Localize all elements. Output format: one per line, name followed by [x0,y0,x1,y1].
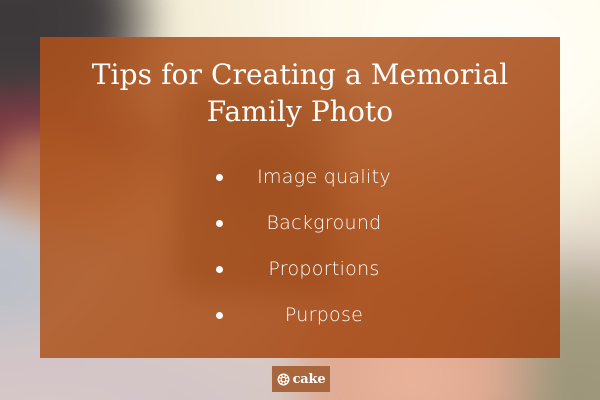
list-item-label: Purpose [40,304,560,326]
list-item: Purpose [40,292,560,338]
panel-content: Tips for Creating a Memorial Family Phot… [40,37,560,358]
bullet-dot-icon [216,266,223,273]
bullet-dot-icon [216,174,223,181]
flower-icon [277,373,290,386]
list-item: Image quality [40,154,560,200]
list-item-label: Image quality [40,166,560,188]
content-overlay-panel: Tips for Creating a Memorial Family Phot… [40,37,560,358]
bullet-dot-icon [216,220,223,227]
tips-list: Image quality Background Proportions Pur… [40,130,560,358]
list-item-label: Background [40,212,560,234]
cake-wordmark: cake [293,373,326,386]
page-title: Tips for Creating a Memorial Family Phot… [40,37,560,130]
list-item: Proportions [40,246,560,292]
list-item-label: Proportions [40,258,560,280]
bullet-dot-icon [216,312,223,319]
screenshot-canvas: Tips for Creating a Memorial Family Phot… [0,0,600,400]
cake-logo-badge[interactable]: cake [272,366,330,392]
list-item: Background [40,200,560,246]
